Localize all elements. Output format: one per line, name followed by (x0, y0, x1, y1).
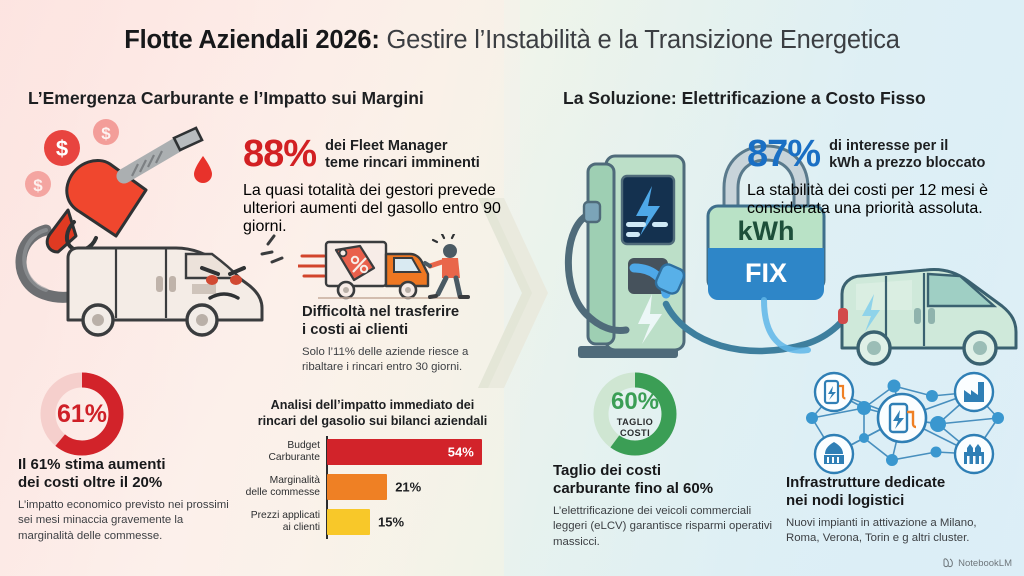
stat-87-body: La stabilità dei costi per 12 mesi è con… (747, 182, 1009, 218)
page-title-bold: Flotte Aziendali 2026: (124, 26, 379, 54)
cost-transfer-heading-line2: i costi ai clienti (302, 322, 502, 340)
stat-87-lead: di interesse per il kWh a prezzo bloccat… (829, 136, 985, 172)
lightning-bolt-icon (636, 186, 660, 236)
cost-transfer-heading-line1: Difficoltà nel trasferire (302, 304, 502, 322)
stat-88-body: La quasi totalità dei gestori prevede ul… (243, 182, 505, 236)
fuel-drop-icon (194, 156, 212, 183)
bar-label-0: Budget Carburante (268, 441, 320, 465)
lightning-bolt-icon (638, 294, 662, 344)
stat-88-percent: 88% dei Fleet Manager teme rincari immin… (243, 136, 480, 172)
notebooklm-label: NotebookLM (958, 558, 1012, 569)
table-row: Prezzi applicati ai clienti 15% (327, 508, 500, 536)
donut-60-sublabel-line2: COSTI (617, 428, 653, 438)
cost-transfer-body: Solo l’11% delle aziende riesce a ribalt… (302, 345, 502, 376)
table-row: Budget Carburante 54% (327, 438, 500, 466)
cathedral-node-icon (955, 435, 993, 473)
infrastructure-heading-line2: nei nodi logistici (786, 492, 1018, 510)
delivery-truck-price-illustration (298, 234, 483, 314)
infrastructure-heading-line1: Infrastrutture dedicate (786, 474, 1018, 492)
stat-88-lead-line2: teme rincari imminenti (325, 155, 480, 172)
donut-61-value: 61% (57, 402, 107, 427)
bar-label-0-line1: Budget (268, 441, 320, 453)
fuel-saving-body: L’elettrificazione dei veicoli commercia… (553, 504, 785, 550)
donut-chart-61: 61% (25, 366, 139, 462)
stat-87-value: 87% (747, 136, 820, 172)
bar-label-1: Marginalità delle commesse (246, 476, 320, 500)
section-header-right: La Soluzione: Elettrificazione a Costo F… (563, 88, 926, 109)
electric-van-icon (838, 269, 1016, 364)
bar-1-value: 21% (395, 480, 421, 495)
ev-charging-station-icon (568, 156, 686, 358)
infrastructure-body: Nuovi impianti in attivazione a Milano, … (786, 516, 1018, 547)
svg-text:$: $ (56, 136, 68, 161)
cost-increase-body: L’impatto economico previsto nei prossim… (18, 498, 234, 544)
chart-title-line2: rincari del gasolio sui bilanci aziendal… (245, 414, 500, 430)
bar-label-1-line2: delle commesse (246, 487, 320, 499)
fuel-saving-heading: Taglio dei costi carburante fino al 60% (553, 462, 785, 498)
dollar-coin-icon: $ (93, 119, 119, 145)
fuel-saving-heading-line1: Taglio dei costi (553, 462, 785, 480)
donut-60-value: 60% (611, 390, 659, 414)
bar-label-2-line2: ai clienti (251, 522, 320, 534)
fuel-nozzle-icon (47, 128, 202, 252)
bar-label-0-line2: Carburante (268, 452, 320, 464)
section-header-left: L’Emergenza Carburante e l’Impatto sui M… (28, 88, 424, 109)
fuel-saving-heading-line2: carburante fino al 60% (553, 480, 785, 498)
chart-bars: Budget Carburante 54% Marginalità delle … (245, 438, 500, 536)
donut-61-center: 61% (25, 366, 139, 462)
dollar-coin-icon: $ (25, 171, 51, 197)
factory-node-icon (955, 373, 993, 411)
padlock-fix-label: FIX (745, 258, 787, 288)
infrastructure-body-line2: Roma, Verona, Torin e ɡ altri cluster. (786, 531, 1018, 546)
cost-increase-heading-line2: dei costi oltre il 20% (18, 474, 234, 492)
infrastructure-block: Infrastrutture dedicate nei nodi logisti… (786, 474, 1018, 547)
bar-label-1-line1: Marginalità (246, 476, 320, 488)
bar-label-2-line1: Prezzi applicati (251, 511, 320, 523)
fuel-saving-block: Taglio dei costi carburante fino al 60% … (553, 462, 785, 550)
stat-88-value: 88% (243, 136, 316, 172)
cost-increase-heading-line1: Il 61% stima aumenti (18, 456, 234, 474)
donut-chart-60: 60% TAGLIO COSTI (578, 366, 692, 462)
infographic-canvas: Flotte Aziendali 2026: Gestire l’Instabi… (0, 0, 1024, 576)
chart-title: Analisi dell’impatto immediato dei rinca… (245, 398, 500, 429)
page-title-rest: Gestire l’Instabilità e la Transizione E… (380, 26, 900, 54)
stat-87-lead-line1: di interesse per il (829, 138, 985, 155)
bar-label-2: Prezzi applicati ai clienti (251, 511, 320, 535)
page-title: Flotte Aziendali 2026: Gestire l’Instabi… (0, 26, 1024, 55)
cost-increase-block: Il 61% stima aumenti dei costi oltre il … (18, 456, 234, 544)
person-pushing-icon (425, 234, 468, 297)
donut-60-sublabel: TAGLIO COSTI (617, 417, 653, 438)
price-tag-icon (336, 246, 374, 280)
station-node-icon (815, 373, 853, 411)
bar-1: 21% (327, 474, 387, 500)
cost-transfer-block: Difficoltà nel trasferire i costi ai cli… (302, 304, 502, 375)
infrastructure-heading: Infrastrutture dedicate nei nodi logisti… (786, 474, 1018, 510)
logistics-network-illustration (786, 366, 1018, 478)
bar-2-value: 15% (378, 515, 404, 530)
bar-0-value: 54% (448, 445, 474, 460)
cost-increase-heading: Il 61% stima aumenti dei costi oltre il … (18, 456, 234, 492)
stat-88-lead-line1: dei Fleet Manager (325, 138, 480, 155)
bar-0: 54% (327, 439, 482, 465)
impact-bar-chart: Analisi dell’impatto immediato dei rinca… (245, 398, 500, 543)
infrastructure-body-line1: Nuovi impianti in attivazione a Milano, (786, 516, 1018, 531)
stat-88-lead: dei Fleet Manager teme rincari imminenti (325, 136, 480, 172)
bar-2: 15% (327, 509, 370, 535)
capitol-node-icon (815, 435, 853, 473)
angry-van-icon (68, 236, 282, 335)
svg-text:$: $ (101, 124, 111, 143)
lightning-bolt-icon (862, 294, 880, 332)
cost-transfer-heading: Difficoltà nel trasferire i costi ai cli… (302, 304, 502, 340)
chart-title-line1: Analisi dell’impatto immediato dei (245, 398, 500, 414)
donut-60-center: 60% TAGLIO COSTI (578, 366, 692, 462)
notebooklm-watermark: NotebookLM (942, 557, 1012, 569)
charging-hub-icon (878, 394, 926, 442)
stat-87-lead-line2: kWh a prezzo bloccato (829, 155, 985, 172)
dollar-coin-icon: $ (44, 130, 80, 166)
stat-87-percent: 87% di interesse per il kWh a prezzo blo… (747, 136, 985, 172)
notebooklm-icon (942, 557, 954, 569)
padlock-kwh-label: kWh (738, 216, 795, 246)
table-row: Marginalità delle commesse 21% (327, 473, 500, 501)
svg-text:$: $ (33, 176, 43, 195)
donut-60-sublabel-line1: TAGLIO (617, 417, 653, 427)
